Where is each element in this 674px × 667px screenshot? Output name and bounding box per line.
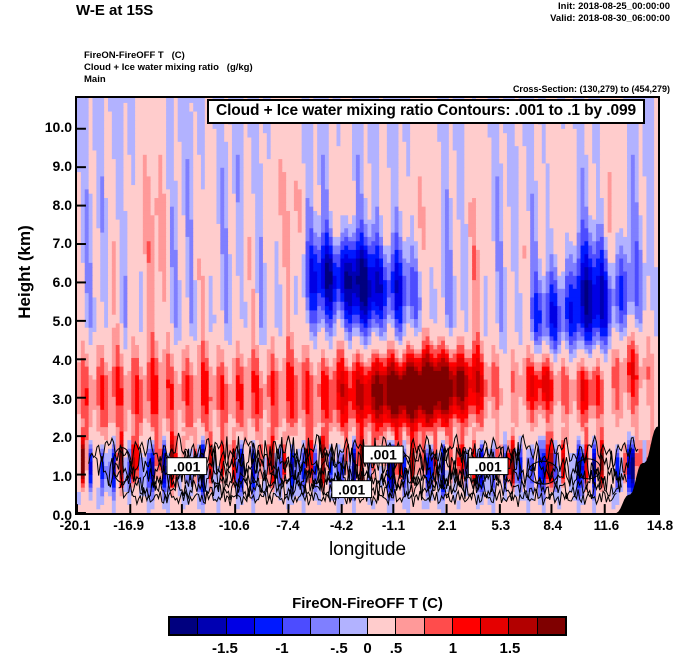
y-tick-label: 9.0: [26, 158, 72, 174]
y-tick-label: 1.0: [26, 468, 72, 484]
temperature-difference-field: .001.001.001.001: [77, 98, 658, 513]
contour-value-label: .001: [363, 446, 403, 463]
y-tick-label: 10.0: [26, 119, 72, 135]
contour-value-label: .001: [167, 458, 207, 475]
colorbar-swatch: [396, 618, 424, 634]
valid-time-label: Valid: 2018-08-30_06:00:00: [550, 13, 670, 25]
x-tick-label: -10.6: [204, 518, 264, 533]
colorbar-swatch: [170, 618, 198, 634]
contour-info-banner: Cloud + Ice water mixing ratio Contours:…: [207, 99, 645, 124]
x-axis-ticks: -20.1-16.9-13.8-10.6-7.4-4.2-1.12.15.38.…: [75, 515, 660, 539]
contour-value-label: .001: [332, 481, 372, 498]
colorbar-swatch: [340, 618, 368, 634]
x-tick-label: -20.1: [45, 518, 105, 533]
x-axis-title: longitude: [75, 539, 660, 561]
colorbar-swatch: [227, 618, 255, 634]
x-tick-label: -13.8: [151, 518, 211, 533]
colorbar-swatch: [283, 618, 311, 634]
model-times: Init: 2018-08-25_00:00:00 Valid: 2018-08…: [550, 1, 670, 24]
colorbar-ticks: -1.5-1-.50.511.5: [168, 638, 567, 662]
x-tick-label: 8.4: [523, 518, 583, 533]
x-tick-label: 2.1: [417, 518, 477, 533]
colorbar-tick-label: .5: [366, 640, 426, 657]
colorbar-tick-label: 1: [423, 640, 483, 657]
init-time-label: Init: 2018-08-25_00:00:00: [550, 1, 670, 13]
cross-section-plot: .001.001.001.001: [75, 96, 660, 515]
colorbar-swatch: [425, 618, 453, 634]
colorbar-swatch: [198, 618, 226, 634]
colorbar-swatch: [509, 618, 537, 634]
y-tick-label: 2.0: [26, 429, 72, 445]
colorbar-title: FireON-FireOFF T (C): [75, 595, 660, 612]
colorbar-swatch: [311, 618, 339, 634]
colorbar-swatch: [538, 618, 565, 634]
colorbar-tick-label: 1.5: [480, 640, 540, 657]
colorbar: [168, 616, 567, 636]
page-title: W-E at 15S: [76, 2, 153, 19]
contour-value-label: .001: [468, 458, 508, 475]
colorbar-tick-label: -1.5: [195, 640, 255, 657]
y-tick-label: 4.0: [26, 352, 72, 368]
colorbar-tick-label: -1: [252, 640, 312, 657]
x-tick-label: 11.6: [576, 518, 636, 533]
y-tick-label: 3.0: [26, 391, 72, 407]
colorbar-swatch: [453, 618, 481, 634]
field-description: FireON-FireOFF T (C) Cloud + Ice water m…: [84, 50, 253, 86]
cross-section-label: Cross-Section: (130,279) to (454,279): [513, 84, 670, 94]
x-tick-label: -1.1: [363, 518, 423, 533]
colorbar-swatch: [368, 618, 396, 634]
colorbar-swatch: [255, 618, 283, 634]
y-axis-title: Height (km): [15, 202, 35, 342]
x-tick-label: 14.8: [630, 518, 674, 533]
x-tick-label: -7.4: [258, 518, 318, 533]
colorbar-swatch: [481, 618, 509, 634]
